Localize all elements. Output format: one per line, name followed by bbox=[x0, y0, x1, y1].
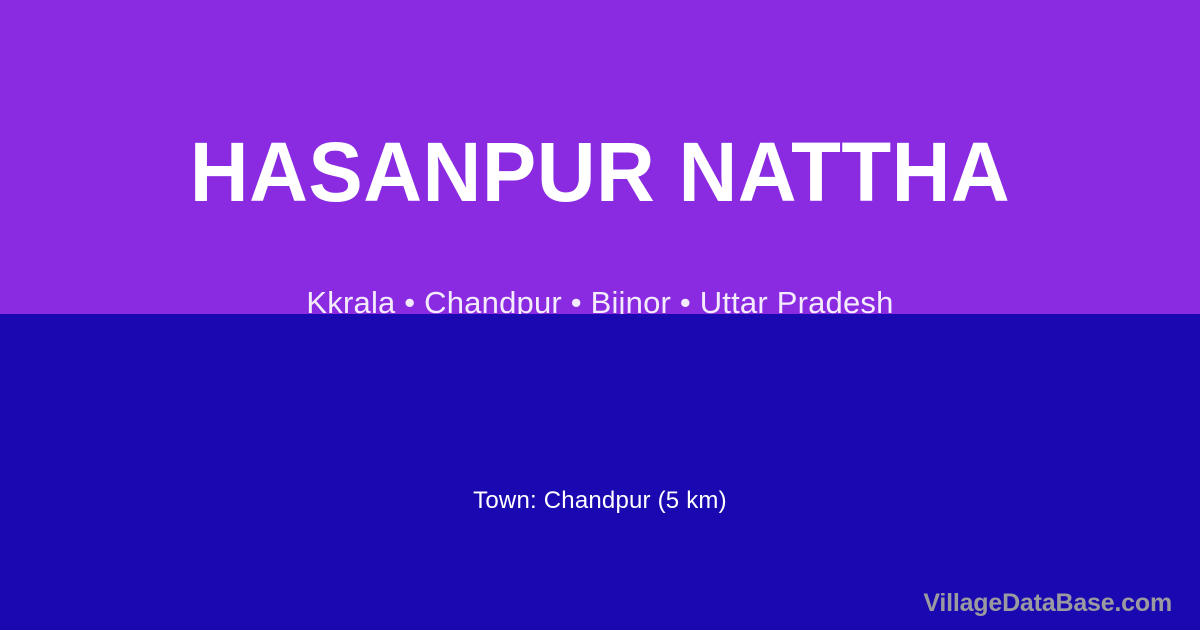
detail-band: Town: Chandpur (5 km) bbox=[0, 314, 1200, 630]
hero-banner: HASANPUR NATTHA Kkrala • Chandpur • Bijn… bbox=[0, 0, 1200, 314]
page-title: HASANPUR NATTHA bbox=[18, 128, 1182, 216]
nearest-town-text: Town: Chandpur (5 km) bbox=[0, 486, 1200, 516]
village-info-card: HASANPUR NATTHA Kkrala • Chandpur • Bijn… bbox=[0, 0, 1200, 630]
site-watermark: VillageDataBase.com bbox=[923, 588, 1172, 618]
